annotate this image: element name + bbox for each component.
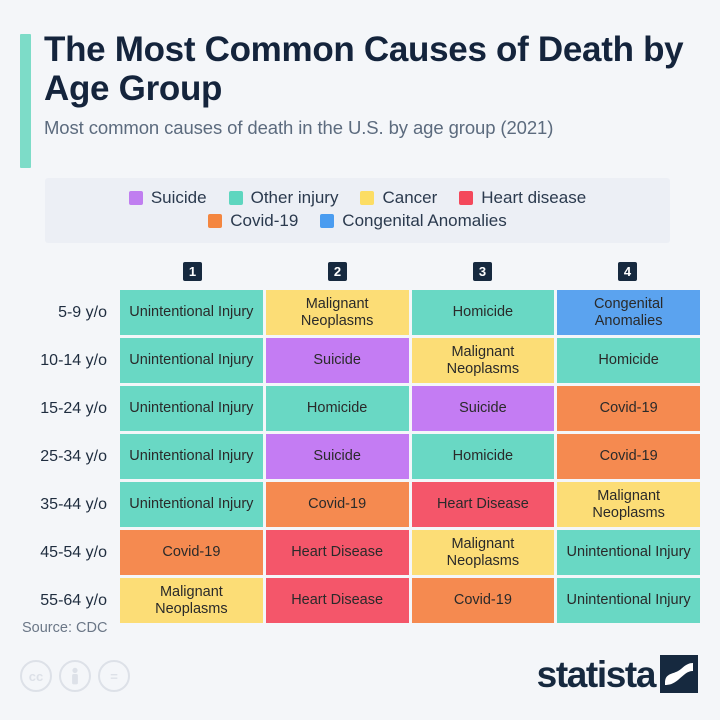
accent-bar — [20, 34, 31, 168]
table-row-cells: Unintentional InjuryCovid-19Heart Diseas… — [120, 482, 700, 527]
age-group-label: 5-9 y/o — [20, 290, 120, 335]
table-row: 15-24 y/oUnintentional InjuryHomicideSui… — [20, 386, 700, 431]
rank-badge: 2 — [328, 262, 347, 281]
cause-cell: Unintentional Injury — [120, 338, 263, 383]
cc-icon[interactable]: cc — [20, 660, 52, 692]
legend-swatch-icon — [208, 214, 222, 228]
legend-swatch-icon — [459, 191, 473, 205]
column-header-cell: 4 — [555, 262, 700, 290]
rank-badge: 3 — [473, 262, 492, 281]
cc-nd-equals-icon[interactable]: = — [98, 660, 130, 692]
table-row-cells: Unintentional InjurySuicideHomicideCovid… — [120, 434, 700, 479]
legend-swatch-icon — [360, 191, 374, 205]
legend-row-2: Covid-19Congenital Anomalies — [45, 211, 670, 231]
table-row-cells: Unintentional InjuryMalignant NeoplasmsH… — [120, 290, 700, 335]
cause-cell: Covid-19 — [557, 434, 700, 479]
cause-cell: Malignant Neoplasms — [412, 338, 555, 383]
legend-swatch-icon — [229, 191, 243, 205]
legend-item: Heart disease — [459, 188, 586, 208]
legend-swatch-icon — [320, 214, 334, 228]
cause-cell: Congenital Anomalies — [557, 290, 700, 335]
causes-table: 1234 5-9 y/oUnintentional InjuryMalignan… — [20, 262, 700, 626]
legend-row-1: SuicideOther injuryCancerHeart disease — [45, 188, 670, 208]
legend-item: Other injury — [229, 188, 339, 208]
table-row: 5-9 y/oUnintentional InjuryMalignant Neo… — [20, 290, 700, 335]
legend-swatch-icon — [129, 191, 143, 205]
rank-badge: 4 — [618, 262, 637, 281]
table-row: 45-54 y/oCovid-19Heart DiseaseMalignant … — [20, 530, 700, 575]
column-header-cell: 1 — [120, 262, 265, 290]
cause-cell: Unintentional Injury — [120, 290, 263, 335]
cause-cell: Homicide — [412, 434, 555, 479]
cause-cell: Suicide — [412, 386, 555, 431]
cause-cell: Heart Disease — [266, 530, 409, 575]
cause-cell: Unintentional Injury — [557, 530, 700, 575]
cc-by-person-icon[interactable] — [59, 660, 91, 692]
cause-cell: Covid-19 — [557, 386, 700, 431]
infographic-page: The Most Common Causes of Death by Age G… — [0, 0, 720, 720]
table-row: 35-44 y/oUnintentional InjuryCovid-19Hea… — [20, 482, 700, 527]
cause-cell: Suicide — [266, 338, 409, 383]
cause-cell: Malignant Neoplasms — [412, 530, 555, 575]
column-header-cell: 3 — [410, 262, 555, 290]
legend-item: Covid-19 — [208, 211, 298, 231]
source-note: Source: CDC — [22, 620, 107, 636]
statista-logo: statista — [537, 655, 698, 693]
table-row: 55-64 y/oMalignant NeoplasmsHeart Diseas… — [20, 578, 700, 623]
legend: SuicideOther injuryCancerHeart disease C… — [45, 178, 670, 243]
table-row-cells: Unintentional InjurySuicideMalignant Neo… — [120, 338, 700, 383]
cause-cell: Heart Disease — [266, 578, 409, 623]
age-group-label: 25-34 y/o — [20, 434, 120, 479]
table-row-cells: Unintentional InjuryHomicideSuicideCovid… — [120, 386, 700, 431]
cause-cell: Unintentional Injury — [557, 578, 700, 623]
age-group-label: 10-14 y/o — [20, 338, 120, 383]
column-header-row: 1234 — [120, 262, 700, 290]
cause-cell: Covid-19 — [266, 482, 409, 527]
legend-label: Suicide — [151, 188, 207, 208]
statista-logo-text: statista — [537, 656, 655, 693]
page-title: The Most Common Causes of Death by Age G… — [44, 30, 684, 108]
cause-cell: Malignant Neoplasms — [557, 482, 700, 527]
legend-label: Congenital Anomalies — [342, 211, 506, 231]
cause-cell: Malignant Neoplasms — [120, 578, 263, 623]
cause-cell: Heart Disease — [412, 482, 555, 527]
cause-cell: Covid-19 — [120, 530, 263, 575]
table-row-cells: Covid-19Heart DiseaseMalignant Neoplasms… — [120, 530, 700, 575]
rank-badge: 1 — [183, 262, 202, 281]
cause-cell: Covid-19 — [412, 578, 555, 623]
age-group-label: 15-24 y/o — [20, 386, 120, 431]
cause-cell: Homicide — [557, 338, 700, 383]
age-group-label: 55-64 y/o — [20, 578, 120, 623]
legend-label: Other injury — [251, 188, 339, 208]
table-row-cells: Malignant NeoplasmsHeart DiseaseCovid-19… — [120, 578, 700, 623]
age-group-label: 35-44 y/o — [20, 482, 120, 527]
header: The Most Common Causes of Death by Age G… — [0, 0, 720, 139]
page-subtitle: Most common causes of death in the U.S. … — [44, 117, 700, 139]
column-header-cell: 2 — [265, 262, 410, 290]
creative-commons-icons: cc = — [20, 660, 130, 692]
table-row: 10-14 y/oUnintentional InjurySuicideMali… — [20, 338, 700, 383]
legend-label: Cancer — [382, 188, 437, 208]
cause-cell: Unintentional Injury — [120, 386, 263, 431]
statista-logo-mark — [660, 655, 698, 693]
legend-item: Congenital Anomalies — [320, 211, 506, 231]
cause-cell: Homicide — [412, 290, 555, 335]
cause-cell: Unintentional Injury — [120, 482, 263, 527]
legend-label: Covid-19 — [230, 211, 298, 231]
cause-cell: Suicide — [266, 434, 409, 479]
legend-item: Suicide — [129, 188, 207, 208]
table-body: 5-9 y/oUnintentional InjuryMalignant Neo… — [20, 290, 700, 623]
legend-item: Cancer — [360, 188, 437, 208]
cause-cell: Malignant Neoplasms — [266, 290, 409, 335]
legend-label: Heart disease — [481, 188, 586, 208]
table-row: 25-34 y/oUnintentional InjurySuicideHomi… — [20, 434, 700, 479]
cause-cell: Unintentional Injury — [120, 434, 263, 479]
cause-cell: Homicide — [266, 386, 409, 431]
age-group-label: 45-54 y/o — [20, 530, 120, 575]
